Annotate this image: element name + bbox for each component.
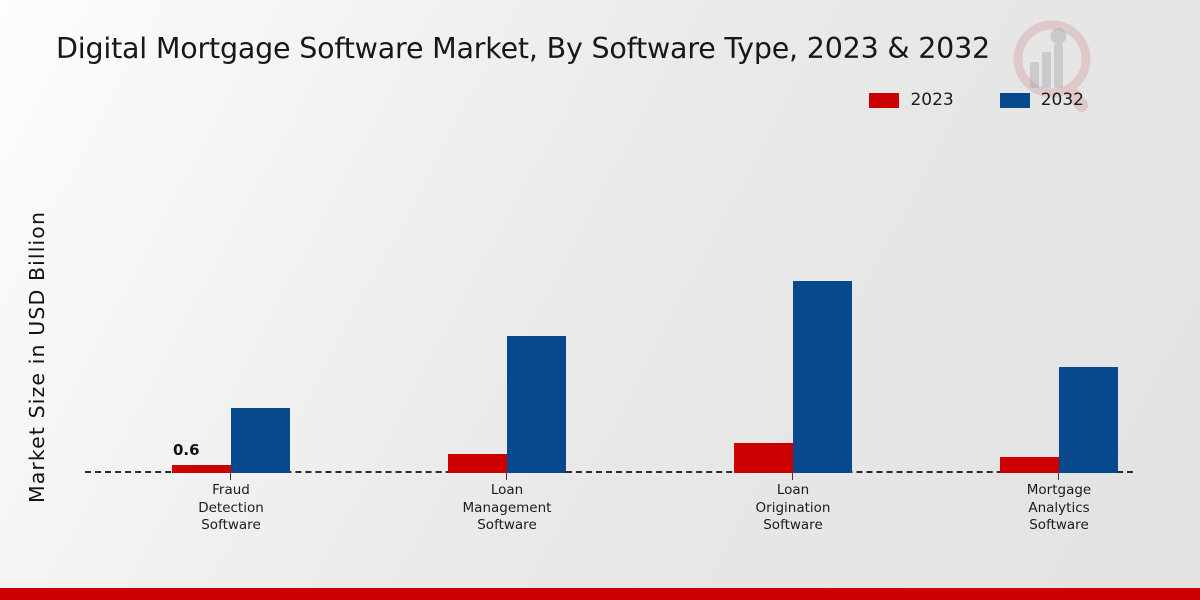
category-label-line1: Fraud [198,482,264,500]
bar-2032-mortgage-analytics-software[interactable] [1059,367,1118,473]
legend-label-2023: 2023 [910,92,953,109]
bar-2023-loan-management-software[interactable] [448,454,507,473]
plot-area: 0.6 Fraud Detection Software Loan Manage… [85,130,1133,473]
bar-group-mortgage-analytics-software: Mortgage Analytics Software [971,130,1147,473]
category-label-loan-origination-software: Loan Origination Software [756,482,831,535]
bar-group-fraud-detection-software: 0.6 Fraud Detection Software [143,130,319,473]
x-axis-tick [506,473,507,480]
legend-item-2032[interactable]: 2032 [1000,92,1084,109]
category-label-line1: Loan [463,482,552,500]
legend-item-2023[interactable]: 2023 [869,92,953,109]
bar-pair [143,130,319,473]
bar-group-loan-origination-software: Loan Origination Software [705,130,881,473]
category-label-line2: Management [463,500,552,518]
category-label-line2: Origination [756,500,831,518]
bar-2023-fraud-detection-software[interactable] [172,465,231,473]
bar-group-loan-management-software: Loan Management Software [419,130,595,473]
bar-pair [419,130,595,473]
category-label-line3: Software [1027,517,1091,535]
category-label-mortgage-analytics-software: Mortgage Analytics Software [1027,482,1091,535]
legend-swatch-2023 [869,93,899,108]
bar-2032-loan-origination-software[interactable] [793,281,852,473]
bar-2032-fraud-detection-software[interactable] [231,408,290,473]
category-label-line1: Mortgage [1027,482,1091,500]
category-label-fraud-detection-software: Fraud Detection Software [198,482,264,535]
bar-value-label-fraud-detection-2023: 0.6 [173,441,200,459]
category-label-line3: Software [198,517,264,535]
category-label-line1: Loan [756,482,831,500]
category-label-loan-management-software: Loan Management Software [463,482,552,535]
y-axis-title: Market Size in USD Billion [25,152,49,562]
chart-title: Digital Mortgage Software Market, By Sof… [56,32,1066,65]
x-axis-tick [230,473,231,480]
bottom-accent-strip [0,588,1200,600]
category-label-line3: Software [463,517,552,535]
bar-2023-mortgage-analytics-software[interactable] [1000,457,1059,473]
chart-figure: Digital Mortgage Software Market, By Sof… [0,0,1200,600]
category-label-line2: Analytics [1027,500,1091,518]
chart-legend: 2023 2032 [869,92,1084,109]
bar-2032-loan-management-software[interactable] [507,336,566,473]
legend-swatch-2032 [1000,93,1030,108]
x-axis-tick [1058,473,1059,480]
category-label-line2: Detection [198,500,264,518]
bar-pair [705,130,881,473]
x-axis-tick [792,473,793,480]
bar-2023-loan-origination-software[interactable] [734,443,793,473]
category-label-line3: Software [756,517,831,535]
legend-label-2032: 2032 [1041,92,1084,109]
bar-pair [971,130,1147,473]
